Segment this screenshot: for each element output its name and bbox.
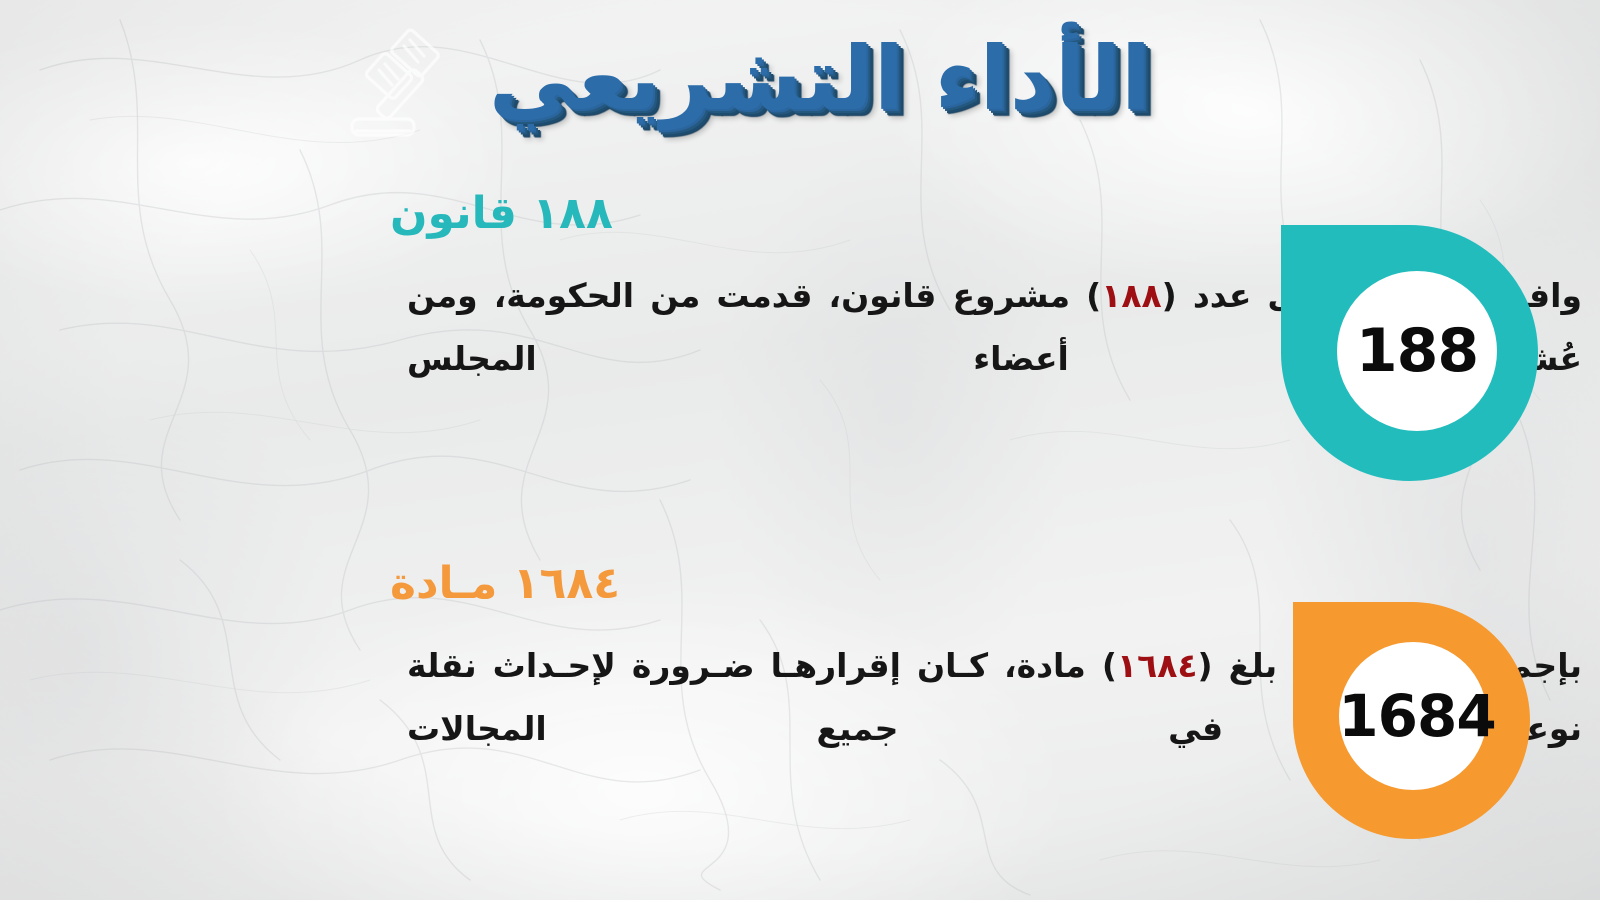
badge-disc-laws: 188 (1337, 271, 1497, 431)
slide-root: الأداء التشريعي ١٨٨ قانون وافق المجلس عل… (0, 0, 1600, 900)
stat-badge-articles: 1684 (1293, 602, 1530, 839)
slide-header: الأداء التشريعي (0, 14, 1600, 164)
stat-body-articles-number: ١٦٨٤ (1117, 646, 1198, 685)
stat-badge-laws: 188 (1281, 225, 1538, 481)
badge-value-articles: 1684 (1338, 682, 1495, 750)
stat-body-laws-number: ١٨٨ (1101, 276, 1161, 315)
badge-value-laws: 188 (1356, 316, 1478, 386)
page-title: الأداء التشريعي (440, 30, 1200, 129)
badge-disc-articles: 1684 (1339, 642, 1487, 790)
